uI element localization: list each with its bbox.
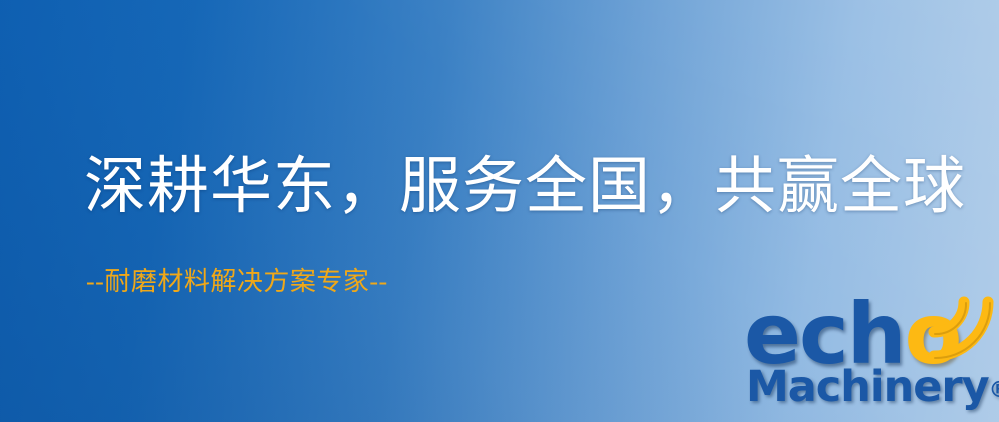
signal-waves-icon bbox=[926, 294, 999, 368]
logo-tagline-text: Machinery bbox=[746, 362, 989, 412]
echo-machinery-logo[interactable]: echo Machinery® bbox=[744, 296, 999, 422]
banner-headline: 深耕华东，服务全国，共赢全球 bbox=[84, 152, 966, 222]
banner-subtitle: --耐磨材料解决方案专家-- bbox=[86, 266, 388, 298]
registered-trademark-icon: ® bbox=[989, 378, 999, 403]
hero-banner: 深耕华东，服务全国，共赢全球 --耐磨材料解决方案专家-- echo Machi… bbox=[0, 0, 999, 422]
logo-tagline: Machinery® bbox=[746, 364, 999, 414]
